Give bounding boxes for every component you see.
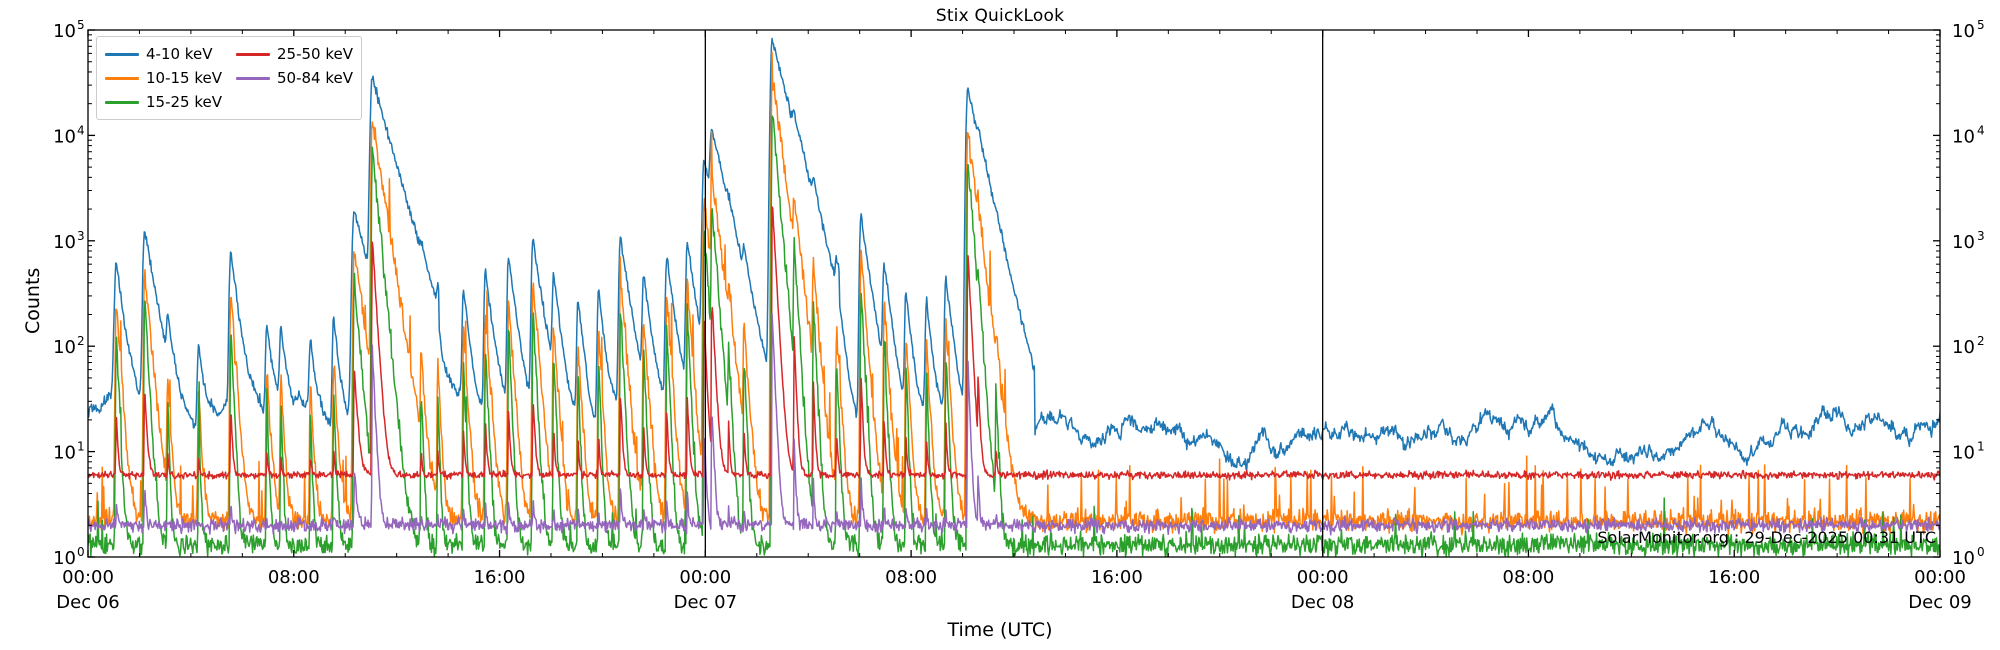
y-tick-label-left: 10: [53, 337, 76, 358]
y-tick-label-right-exponent: 5: [1977, 18, 1985, 32]
x-tick-label-date: Dec 07: [674, 592, 737, 613]
legend-item-label: 10-15 keV: [146, 69, 222, 87]
legend-column-1: 4-10 keV10-15 keV15-25 keV: [105, 43, 222, 113]
x-tick-label-time: 00:00: [62, 567, 114, 588]
y-tick-label-right: 10: [1952, 443, 1975, 464]
legend-item-4-10-kev[interactable]: 4-10 keV: [105, 43, 222, 65]
y-tick-label-left-exponent: 0: [77, 545, 85, 559]
y-tick-label-left: 10: [53, 21, 76, 42]
x-tick-label-time: 08:00: [885, 567, 937, 588]
y-tick-label-left: 10: [53, 232, 76, 253]
x-tick-label-time: 16:00: [474, 567, 526, 588]
y-tick-label-left-exponent: 5: [77, 18, 85, 32]
y-tick-label-left-exponent: 1: [77, 440, 85, 454]
y-tick-label-right-exponent: 0: [1977, 545, 1985, 559]
y-tick-label-right-exponent: 3: [1977, 229, 1985, 243]
legend-color-swatch: [105, 101, 139, 104]
credit-text: SolarMonitor.org : 29-Dec-2025 00:31 UTC: [1597, 528, 1936, 547]
x-tick-label-date: Dec 08: [1291, 592, 1354, 613]
y-tick-label-right-exponent: 2: [1977, 334, 1985, 348]
legend-item-15-25-kev[interactable]: 15-25 keV: [105, 91, 222, 113]
x-tick-label-time: 08:00: [1503, 567, 1555, 588]
y-axis-label: Counts: [22, 267, 44, 333]
y-tick-label-right: 10: [1952, 126, 1975, 147]
legend-item-label: 4-10 keV: [146, 45, 212, 63]
y-tick-label-left-exponent: 4: [77, 123, 85, 137]
x-axis-label: Time (UTC): [0, 619, 2000, 641]
y-tick-label-left: 10: [53, 443, 76, 464]
y-tick-label-left: 10: [53, 126, 76, 147]
legend-item-label: 25-50 keV: [277, 45, 353, 63]
x-tick-label-time: 08:00: [268, 567, 320, 588]
x-tick-label-date: Dec 09: [1908, 592, 1971, 613]
x-tick-label-time: 16:00: [1708, 567, 1760, 588]
legend-color-swatch: [236, 53, 270, 56]
y-tick-label-right-exponent: 1: [1977, 440, 1985, 454]
y-tick-label-left: 10: [53, 548, 76, 569]
y-tick-label-right: 10: [1952, 337, 1975, 358]
x-tick-label-date: Dec 06: [56, 592, 119, 613]
legend-column-2: 25-50 keV50-84 keV: [236, 43, 353, 113]
legend-item-10-15-kev[interactable]: 10-15 keV: [105, 67, 222, 89]
y-tick-label-left-exponent: 3: [77, 229, 85, 243]
legend-item-50-84-kev[interactable]: 50-84 keV: [236, 67, 353, 89]
y-tick-label-right: 10: [1952, 548, 1975, 569]
legend-item-25-50-kev[interactable]: 25-50 keV: [236, 43, 353, 65]
legend-color-swatch: [105, 53, 139, 56]
x-tick-label-time: 00:00: [1914, 567, 1966, 588]
y-tick-label-left-exponent: 2: [77, 334, 85, 348]
x-tick-label-time: 00:00: [1297, 567, 1349, 588]
chart-root: Stix QuickLook 1001001011011021021031031…: [0, 0, 2000, 650]
y-tick-label-right: 10: [1952, 21, 1975, 42]
legend: 4-10 keV10-15 keV15-25 keV25-50 keV50-84…: [96, 36, 362, 120]
legend-item-label: 15-25 keV: [146, 93, 222, 111]
legend-color-swatch: [236, 77, 270, 80]
legend-item-label: 50-84 keV: [277, 69, 353, 87]
legend-color-swatch: [105, 77, 139, 80]
x-tick-label-time: 00:00: [679, 567, 731, 588]
y-tick-label-right-exponent: 4: [1977, 123, 1985, 137]
x-tick-label-time: 16:00: [1091, 567, 1143, 588]
y-tick-label-right: 10: [1952, 232, 1975, 253]
